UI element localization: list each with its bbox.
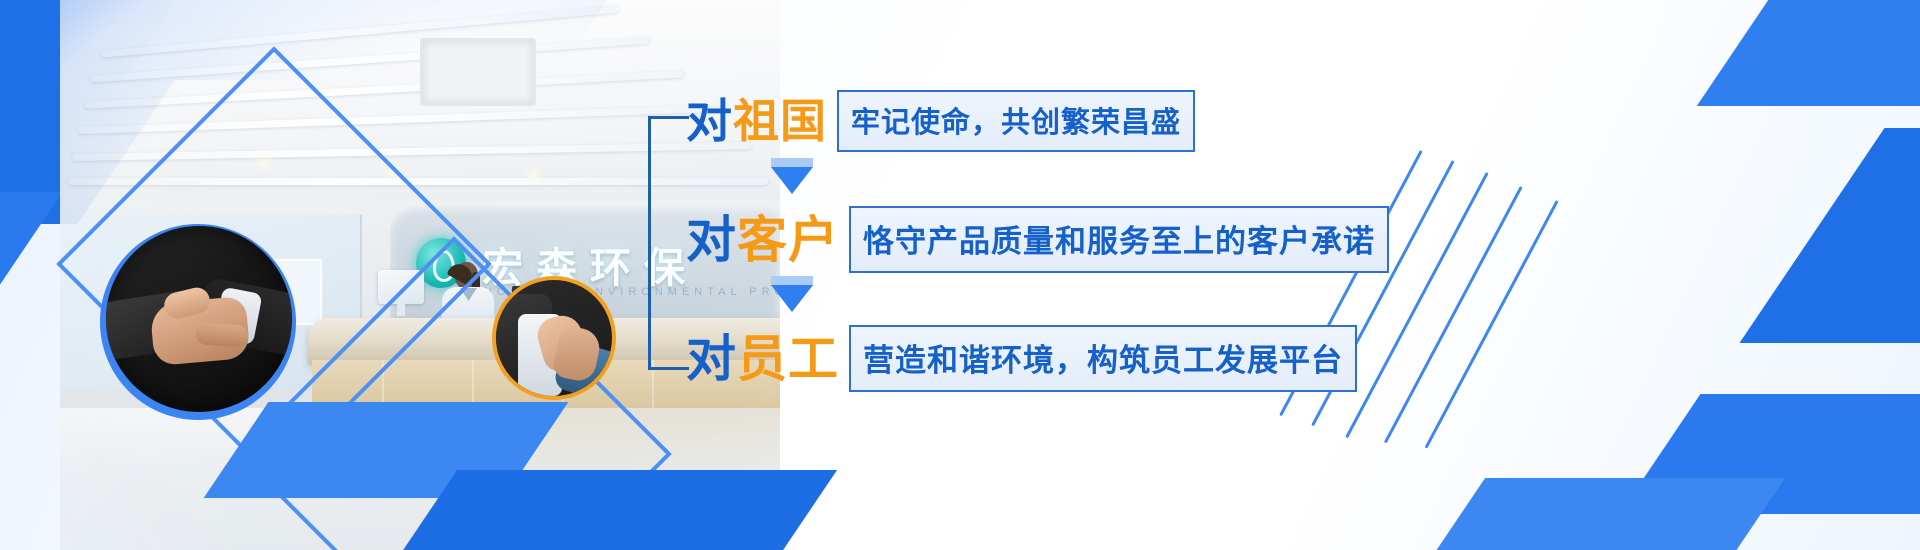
value-item-employee: 对员工 营造和谐环境，构筑员工发展平台 [686, 325, 1357, 392]
value-item-customer: 对客户 恪守产品质量和服务至上的客户承诺 [686, 206, 1389, 273]
company-values-banner: 宏森环保 HONGSEN ENVIRONMENTAL PROTECTION [0, 0, 1920, 550]
list-bracket [648, 116, 689, 370]
value-item-country: 对祖国 牢记使命，共创繁荣昌盛 [686, 90, 1195, 152]
value-lead-country: 对祖国 [686, 98, 827, 144]
value-lead-employee: 对员工 [686, 334, 839, 384]
decor-parallelogram-bottom-right [1411, 478, 1785, 550]
value-text-employee: 营造和谐环境，构筑员工发展平台 [849, 325, 1357, 392]
handshake-photo [106, 226, 292, 412]
values-list: 对祖国 牢记使命，共创繁荣昌盛 对客户 恪守产品质量和服务至上的客户承诺 对员工… [648, 78, 1828, 408]
value-text-country: 牢记使命，共创繁荣昌盛 [837, 90, 1195, 152]
decor-parallelogram-bottom [383, 470, 837, 550]
ceiling-vent [420, 38, 536, 106]
applause-photo [496, 280, 612, 396]
value-text-customer: 恪守产品质量和服务至上的客户承诺 [849, 206, 1389, 273]
value-lead-customer: 对客户 [686, 215, 839, 265]
